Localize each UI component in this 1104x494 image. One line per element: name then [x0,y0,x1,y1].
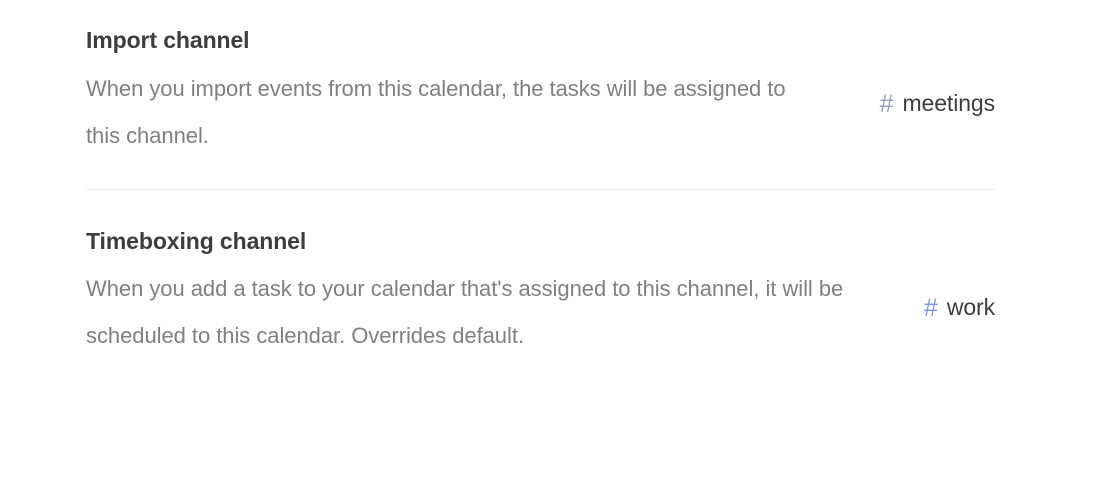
calendar-channel-settings-panel: Import channel When you import events fr… [0,0,1104,494]
setting-title-import-channel: Import channel [86,26,786,55]
setting-description-import-channel: When you import events from this calenda… [86,55,786,159]
channel-selector-import-channel[interactable]: # meetings [880,91,995,116]
setting-row-import-channel: Import channel When you import events fr… [86,0,995,189]
hash-icon: # [924,296,938,321]
setting-title-timeboxing-channel: Timeboxing channel [86,227,866,256]
channel-name-label: meetings [902,92,995,115]
hash-icon: # [880,92,894,117]
setting-row-timeboxing-channel: Timeboxing channel When you add a task t… [86,190,995,376]
channel-selector-timeboxing-channel[interactable]: # work [924,295,995,320]
setting-text-import-channel: Import channel When you import events fr… [86,26,786,159]
channel-name-label: work [947,296,995,319]
setting-text-timeboxing-channel: Timeboxing channel When you add a task t… [86,227,866,360]
setting-description-timeboxing-channel: When you add a task to your calendar tha… [86,255,866,359]
